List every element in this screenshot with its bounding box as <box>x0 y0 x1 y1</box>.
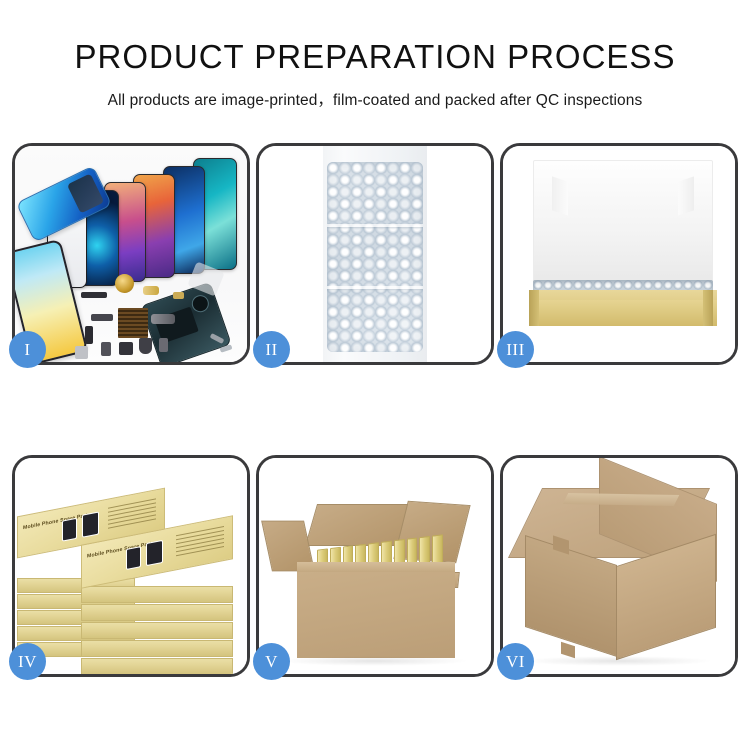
carton-shadow <box>523 656 713 666</box>
header: PRODUCT PREPARATION PROCESS All products… <box>0 0 750 110</box>
step-image-1 <box>15 146 247 362</box>
step-panel-6: VI <box>500 455 738 677</box>
stacked-box <box>81 586 233 603</box>
flex-cable-part <box>81 292 107 298</box>
mailer-lid <box>533 160 713 284</box>
ribbon-cable-part <box>91 314 113 321</box>
wrap-seam-top <box>327 224 423 227</box>
mailer-tray <box>529 290 717 326</box>
screw-tray-part <box>118 308 148 338</box>
wrap-seam-bottom <box>327 286 423 289</box>
sealed-carton-scene <box>503 458 735 674</box>
stacked-boxes-scene: Mobile Phone Spare Parts Mobile Phone Sp… <box>15 458 247 674</box>
product-preparation-infographic: PRODUCT PREPARATION PROCESS All products… <box>0 0 750 750</box>
step-image-2 <box>259 146 491 362</box>
box-spec-lines <box>108 498 156 533</box>
box-stack: Mobile Phone Spare Parts Mobile Phone Sp… <box>15 458 247 674</box>
sim-ejector-part <box>75 346 88 359</box>
step-badge-2: II <box>253 331 290 368</box>
bubble-pattern-overlay <box>327 162 423 352</box>
box-phone-image <box>146 540 163 566</box>
step-image-4: Mobile Phone Spare Parts Mobile Phone Sp… <box>15 458 247 674</box>
stacked-box <box>81 604 233 621</box>
step-badge-6: VI <box>497 643 534 680</box>
mailer-lid-right-fold <box>678 176 694 215</box>
step-badge-5: V <box>253 643 290 680</box>
step-badge-3: III <box>497 331 534 368</box>
mailer-side-right <box>703 290 713 326</box>
bubble-wrap-scene <box>259 146 491 362</box>
box-phone-image <box>62 518 77 542</box>
speaker-module-part <box>139 338 152 354</box>
phone-parts-scene <box>15 146 247 362</box>
step-panel-2: II <box>256 143 494 365</box>
mailer-side-left <box>529 290 539 326</box>
box-label-text: Mobile Phone Spare Parts <box>87 540 155 559</box>
page-title: PRODUCT PREPARATION PROCESS <box>0 38 750 76</box>
step-image-5 <box>259 458 491 674</box>
step-image-6 <box>503 458 735 674</box>
box-phone-image <box>126 546 141 570</box>
bubble-wrapped-package <box>327 162 423 352</box>
mailer-tray-front <box>529 300 717 326</box>
step-panel-4: Mobile Phone Spare Parts Mobile Phone Sp… <box>12 455 250 677</box>
step-image-3 <box>503 146 735 362</box>
stacked-box <box>81 640 233 657</box>
packing-tape <box>563 493 680 506</box>
vibrator-motor-part <box>119 342 133 355</box>
carton-shadow <box>279 656 469 666</box>
battery-connector-part <box>159 338 168 352</box>
carton-front-face <box>297 572 455 658</box>
steps-grid: I II <box>12 143 738 677</box>
step-badge-1: I <box>9 331 46 368</box>
step-panel-1: I <box>12 143 250 365</box>
gold-contact-part <box>173 292 184 299</box>
step-panel-5: V <box>256 455 494 677</box>
speaker-coil-part <box>115 274 134 293</box>
open-mailer-scene <box>503 146 735 362</box>
step-badge-4: IV <box>9 643 46 680</box>
stacked-box <box>81 658 233 674</box>
mailer-lid-left-fold <box>552 176 568 215</box>
box-spec-lines <box>176 526 224 561</box>
camera-flex-part <box>151 314 175 324</box>
box-phone-image <box>82 511 99 537</box>
page-subtitle: All products are image-printed，film-coat… <box>0 88 750 110</box>
sim-tray-part <box>101 342 111 356</box>
box-label-text: Mobile Phone Spare Parts <box>23 512 91 531</box>
step-panel-3: III <box>500 143 738 365</box>
antenna-strip-part <box>85 326 93 344</box>
stacked-box <box>81 622 233 639</box>
gold-connector-part <box>143 286 159 295</box>
open-carton-scene <box>259 458 491 674</box>
